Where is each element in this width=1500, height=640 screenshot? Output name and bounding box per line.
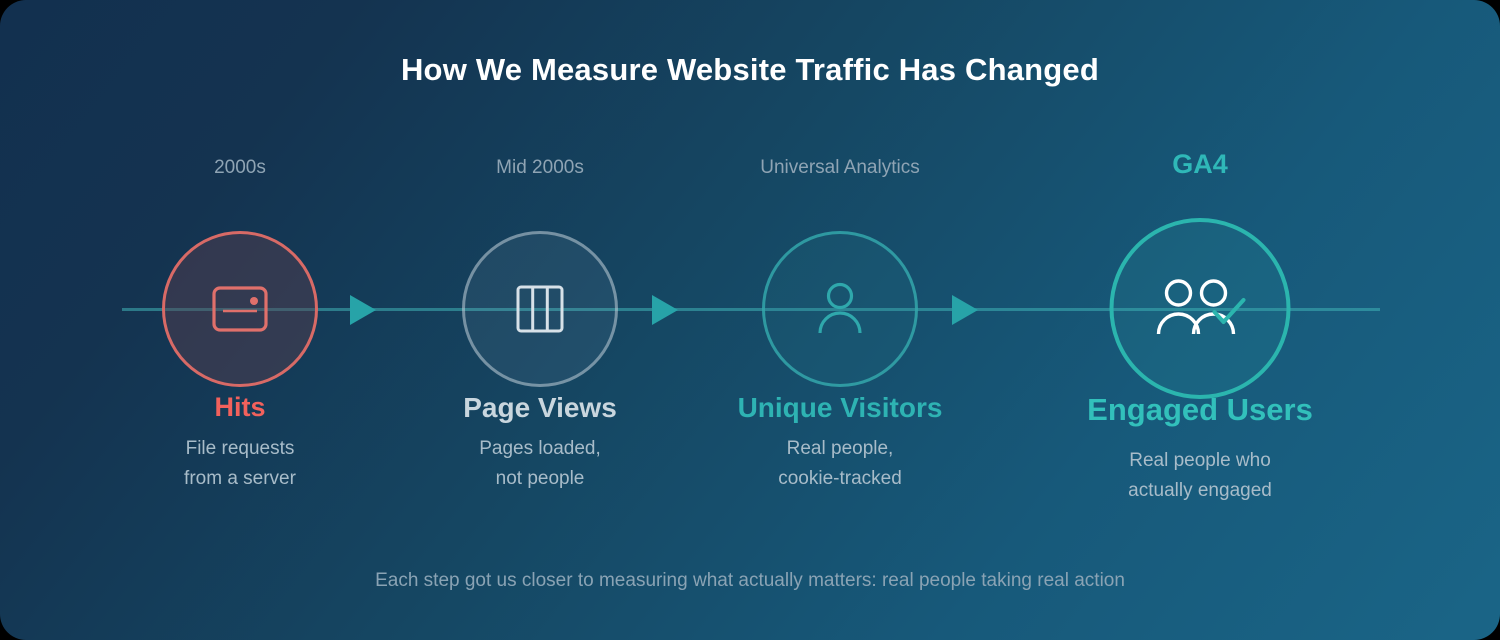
infographic-canvas: How We Measure Website Traffic Has Chang…	[0, 0, 1500, 640]
stage-engaged-users-circle[interactable]	[1110, 218, 1291, 399]
single-person-icon	[812, 280, 868, 338]
stage-hits-description: File requests from a server	[184, 434, 296, 494]
stage-unique-visitors-circle[interactable]	[762, 231, 918, 387]
stage-unique-visitors-description: Real people, cookie-tracked	[778, 434, 902, 494]
stage-page-views-era: Mid 2000s	[496, 157, 584, 179]
footer-caption: Each step got us closer to measuring wha…	[0, 570, 1500, 592]
stage-unique-visitors-name: Unique Visitors	[738, 392, 943, 424]
stage-hits-circle[interactable]	[162, 231, 318, 387]
arrow-icon-3	[952, 295, 978, 325]
page-title: How We Measure Website Traffic Has Chang…	[0, 52, 1500, 88]
arrow-icon-1	[350, 295, 376, 325]
stage-engaged-users-description: Real people who actually engaged	[1128, 446, 1272, 506]
stage-hits-era: 2000s	[214, 157, 266, 179]
two-people-check-icon	[1151, 278, 1249, 340]
arrow-icon-2	[652, 295, 678, 325]
stage-hits-name: Hits	[214, 392, 265, 423]
pages-columns-icon	[515, 284, 565, 334]
stage-engaged-users-era: GA4	[1172, 149, 1228, 180]
stage-page-views-circle[interactable]	[462, 231, 618, 387]
stage-unique-visitors-era: Universal Analytics	[760, 157, 919, 179]
stage-page-views-description: Pages loaded, not people	[479, 434, 601, 494]
stage-page-views-name: Page Views	[463, 392, 617, 424]
stage-engaged-users-name: Engaged Users	[1087, 392, 1313, 428]
server-file-icon	[211, 284, 269, 334]
